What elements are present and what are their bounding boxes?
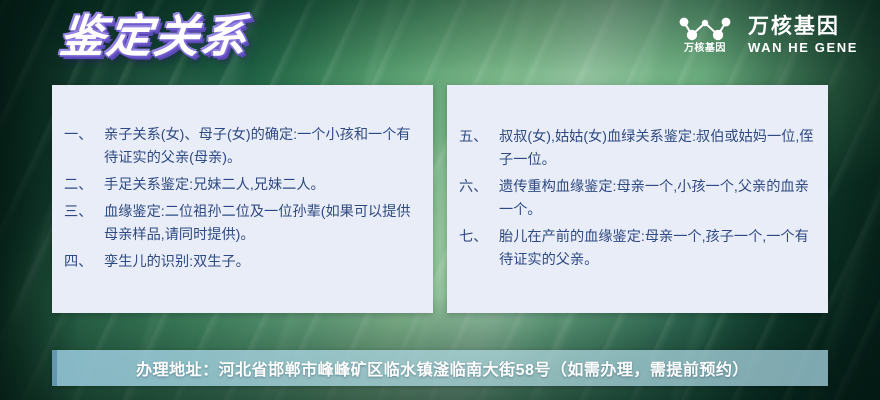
molecule-icon: [676, 16, 734, 42]
brand-name-en: WAN HE GENE: [748, 41, 858, 54]
list-item-number: 一、: [64, 124, 104, 147]
list-item-text: 胎儿在产前的血缘鉴定:母亲一个,孩子一个,一个有待证实的父亲。: [499, 226, 814, 272]
address-text: 办理地址：河北省邯郸市峰峰矿区临水镇滏临南大街58号（如需办理，需提前预约）: [136, 356, 749, 380]
list-item: 五、 叔叔(女),姑姑(女)血绿关系鉴定:叔伯或姑妈一位,侄子一位。: [459, 126, 814, 172]
content-panels: 一、 亲子关系(女)、母子(女)的确定:一个小孩和一个有待证实的父亲(母亲)。 …: [52, 85, 828, 313]
brand-logo: 万核基因: [676, 16, 734, 54]
list-item-text: 叔叔(女),姑姑(女)血绿关系鉴定:叔伯或姑妈一位,侄子一位。: [499, 126, 814, 172]
list-item: 六、 遗传重构血缘鉴定:母亲一个,小孩一个,父亲的血亲一个。: [459, 176, 814, 222]
list-item-text: 血缘鉴定:二位祖孙二位及一位孙辈(如果可以提供母亲样品,请同时提供)。: [104, 201, 419, 247]
brand-name-cn: 万核基因: [748, 16, 858, 38]
list-item-number: 六、: [459, 176, 499, 199]
panel-left: 一、 亲子关系(女)、母子(女)的确定:一个小孩和一个有待证实的父亲(母亲)。 …: [52, 85, 433, 313]
list-item: 二、 手足关系鉴定:兄妹二人,兄妹二人。: [64, 174, 419, 197]
list-item: 七、 胎儿在产前的血缘鉴定:母亲一个,孩子一个,一个有待证实的父亲。: [459, 226, 814, 272]
brand-logo-label: 万核基因: [684, 44, 726, 54]
page-title: 鉴定关系: [58, 14, 251, 59]
list-item-text: 孪生儿的识别:双生子。: [104, 251, 419, 274]
panel-right: 五、 叔叔(女),姑姑(女)血绿关系鉴定:叔伯或姑妈一位,侄子一位。 六、 遗传…: [447, 85, 828, 313]
list-item-number: 五、: [459, 126, 499, 149]
list-item-text: 手足关系鉴定:兄妹二人,兄妹二人。: [104, 174, 419, 197]
address-banner: 办理地址：河北省邯郸市峰峰矿区临水镇滏临南大街58号（如需办理，需提前预约）: [52, 350, 828, 386]
brand-name-block: 万核基因 WAN HE GENE: [748, 16, 858, 54]
list-item-number: 七、: [459, 226, 499, 249]
list-item-number: 四、: [64, 251, 104, 274]
list-item-text: 亲子关系(女)、母子(女)的确定:一个小孩和一个有待证实的父亲(母亲)。: [104, 124, 419, 170]
list-item: 三、 血缘鉴定:二位祖孙二位及一位孙辈(如果可以提供母亲样品,请同时提供)。: [64, 201, 419, 247]
list-item-number: 三、: [64, 201, 104, 224]
brand-lockup: 万核基因 万核基因 WAN HE GENE: [676, 16, 858, 54]
list-item-number: 二、: [64, 174, 104, 197]
slide-root: 鉴定关系: [0, 0, 880, 400]
list-item: 一、 亲子关系(女)、母子(女)的确定:一个小孩和一个有待证实的父亲(母亲)。: [64, 124, 419, 170]
list-item: 四、 孪生儿的识别:双生子。: [64, 251, 419, 274]
list-item-text: 遗传重构血缘鉴定:母亲一个,小孩一个,父亲的血亲一个。: [499, 176, 814, 222]
